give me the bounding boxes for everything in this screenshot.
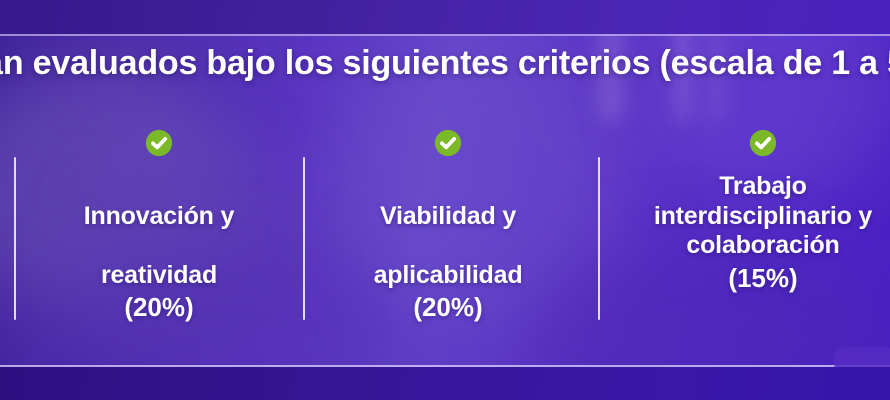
criterion-weight: (20%)	[14, 292, 304, 323]
criterion-line-2: reatividad	[101, 261, 217, 289]
criterion-line-1: Innovación y	[84, 202, 234, 230]
criterion-card-innovacion: Innovación y reatividad (20%)	[14, 118, 304, 352]
criterion-label: Viabilidad y aplicabilidad (20%)	[303, 172, 593, 352]
check-circle-icon	[433, 128, 463, 158]
criterion-label: Trabajo interdisciplinario y colaboració…	[598, 172, 890, 293]
criteria-row: Innovación y reatividad (20%) Viabilidad…	[0, 118, 890, 348]
criterion-weight: (15%)	[598, 263, 890, 294]
criterion-weight: (20%)	[303, 292, 593, 323]
check-circle-icon	[748, 128, 778, 158]
criterion-line-1: Trabajo	[719, 172, 807, 200]
check-circle-icon	[144, 128, 174, 158]
criterion-card-trabajo: Trabajo interdisciplinario y colaboració…	[598, 118, 890, 293]
slide-headline: án evaluados bajo los siguientes criteri…	[0, 44, 890, 83]
criterion-line-1: Viabilidad y	[380, 202, 516, 230]
criterion-card-viabilidad: Viabilidad y aplicabilidad (20%)	[303, 118, 593, 352]
criterion-line-2: aplicabilidad	[374, 261, 523, 289]
criterion-label: Innovación y reatividad (20%)	[14, 172, 304, 352]
criterion-line-2: interdisciplinario y	[654, 202, 872, 230]
criterion-line-3: colaboración	[686, 231, 839, 259]
presentation-slide: án evaluados bajo los siguientes criteri…	[0, 0, 890, 400]
